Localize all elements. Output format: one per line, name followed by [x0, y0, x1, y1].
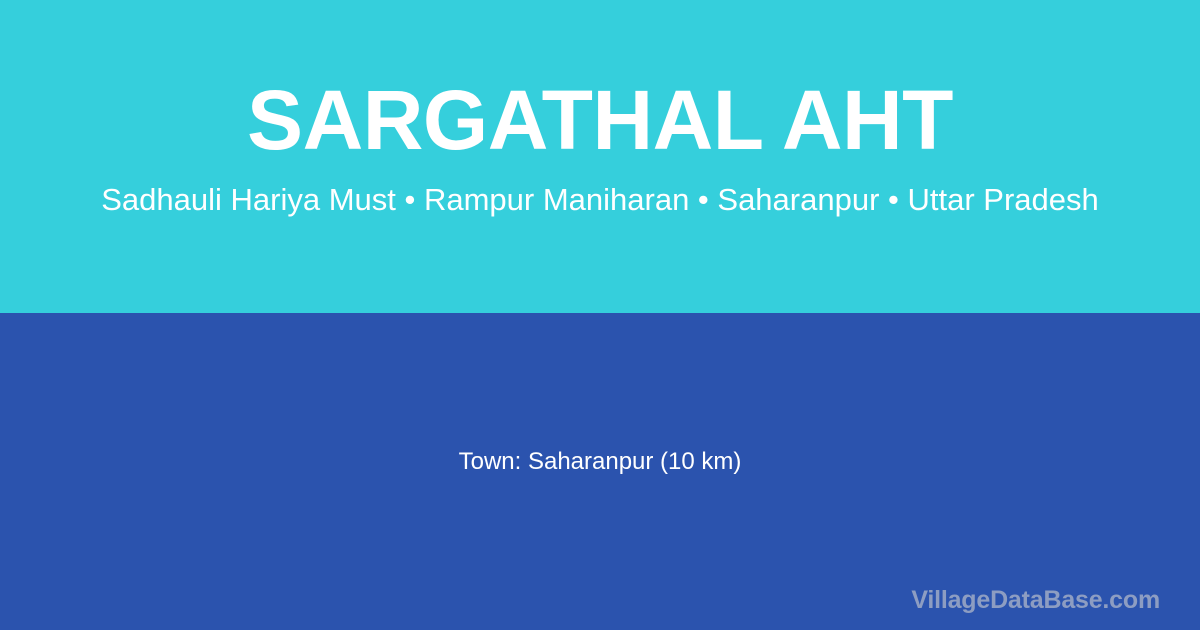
- page-title: SARGATHAL AHT: [247, 78, 953, 162]
- nearest-town-row: Town: Saharanpur (10 km): [0, 313, 1200, 630]
- site-watermark: VillageDataBase.com: [911, 587, 1160, 615]
- village-info-card: SARGATHAL AHT Sadhauli Hariya Must • Ram…: [0, 0, 1200, 630]
- breadcrumb: Sadhauli Hariya Must • Rampur Maniharan …: [101, 183, 1098, 217]
- nearest-town-text: Town: Saharanpur (10 km): [459, 448, 742, 477]
- body-panel: Town: Saharanpur (10 km): [0, 313, 1200, 630]
- header-banner: SARGATHAL AHT Sadhauli Hariya Must • Ram…: [0, 0, 1200, 313]
